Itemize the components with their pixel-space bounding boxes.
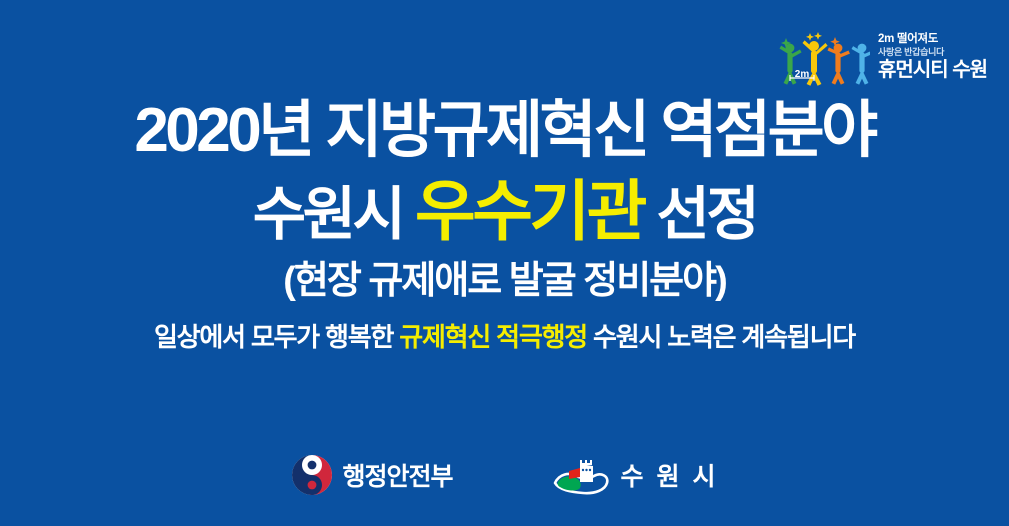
- svg-text:2m: 2m: [795, 69, 810, 80]
- humancity-suwon-logo: 2m 2m 떨어져도 사랑은 반갑습니다 휴먼시티 수원: [774, 26, 987, 88]
- humancity-tagline-line2: 사랑은 반갑습니다: [878, 48, 987, 57]
- headline-line-4-highlight: 규제혁신 적극행정: [399, 322, 587, 352]
- suwon-fortress-emblem-icon: [549, 452, 611, 498]
- city-logo-label: 수 원 시: [621, 457, 719, 493]
- footer-logo-row: 행정안전부 수 원 시: [0, 452, 1009, 498]
- headline-line-4-prefix: 일상에서 모두가 행복한: [154, 322, 399, 352]
- headline-line-4-suffix: 수원시 노력은 계속됩니다: [587, 322, 855, 352]
- headline-line-2-prefix: 수원시: [253, 182, 415, 247]
- ministry-logo: 행정안전부: [291, 454, 453, 496]
- headline-line-2: 수원시 우수기관 선정: [0, 177, 1009, 246]
- headline-line-2-highlight: 우수기관: [415, 174, 644, 248]
- humancity-text-block: 2m 떨어져도 사랑은 반갑습니다 휴먼시티 수원: [878, 34, 987, 80]
- headline-line-4: 일상에서 모두가 행복한 규제혁신 적극행정 수원시 노력은 계속됩니다: [0, 324, 1009, 351]
- headline-line-2-suffix: 선정: [644, 182, 756, 247]
- taegeuk-emblem-icon: [291, 454, 333, 496]
- ministry-logo-label: 행정안전부: [343, 457, 453, 493]
- banner-root: 2m 2m 떨어져도 사랑은 반갑습니다 휴먼시티 수원 2020년 지방규제혁…: [0, 0, 1009, 526]
- city-logo: 수 원 시: [549, 452, 719, 498]
- headline-line-3: (현장 규제애로 발굴 정비분야): [0, 262, 1009, 302]
- humancity-tagline-line1: 2m 떨어져도: [878, 34, 987, 46]
- humancity-figures-icon: 2m: [774, 26, 870, 88]
- humancity-brand: 휴먼시티 수원: [878, 60, 987, 80]
- headline-block: 2020년 지방규제혁신 역점분야 수원시 우수기관 선정 (현장 규제애로 발…: [0, 98, 1009, 352]
- headline-line-1: 2020년 지방규제혁신 역점분야: [0, 98, 1009, 163]
